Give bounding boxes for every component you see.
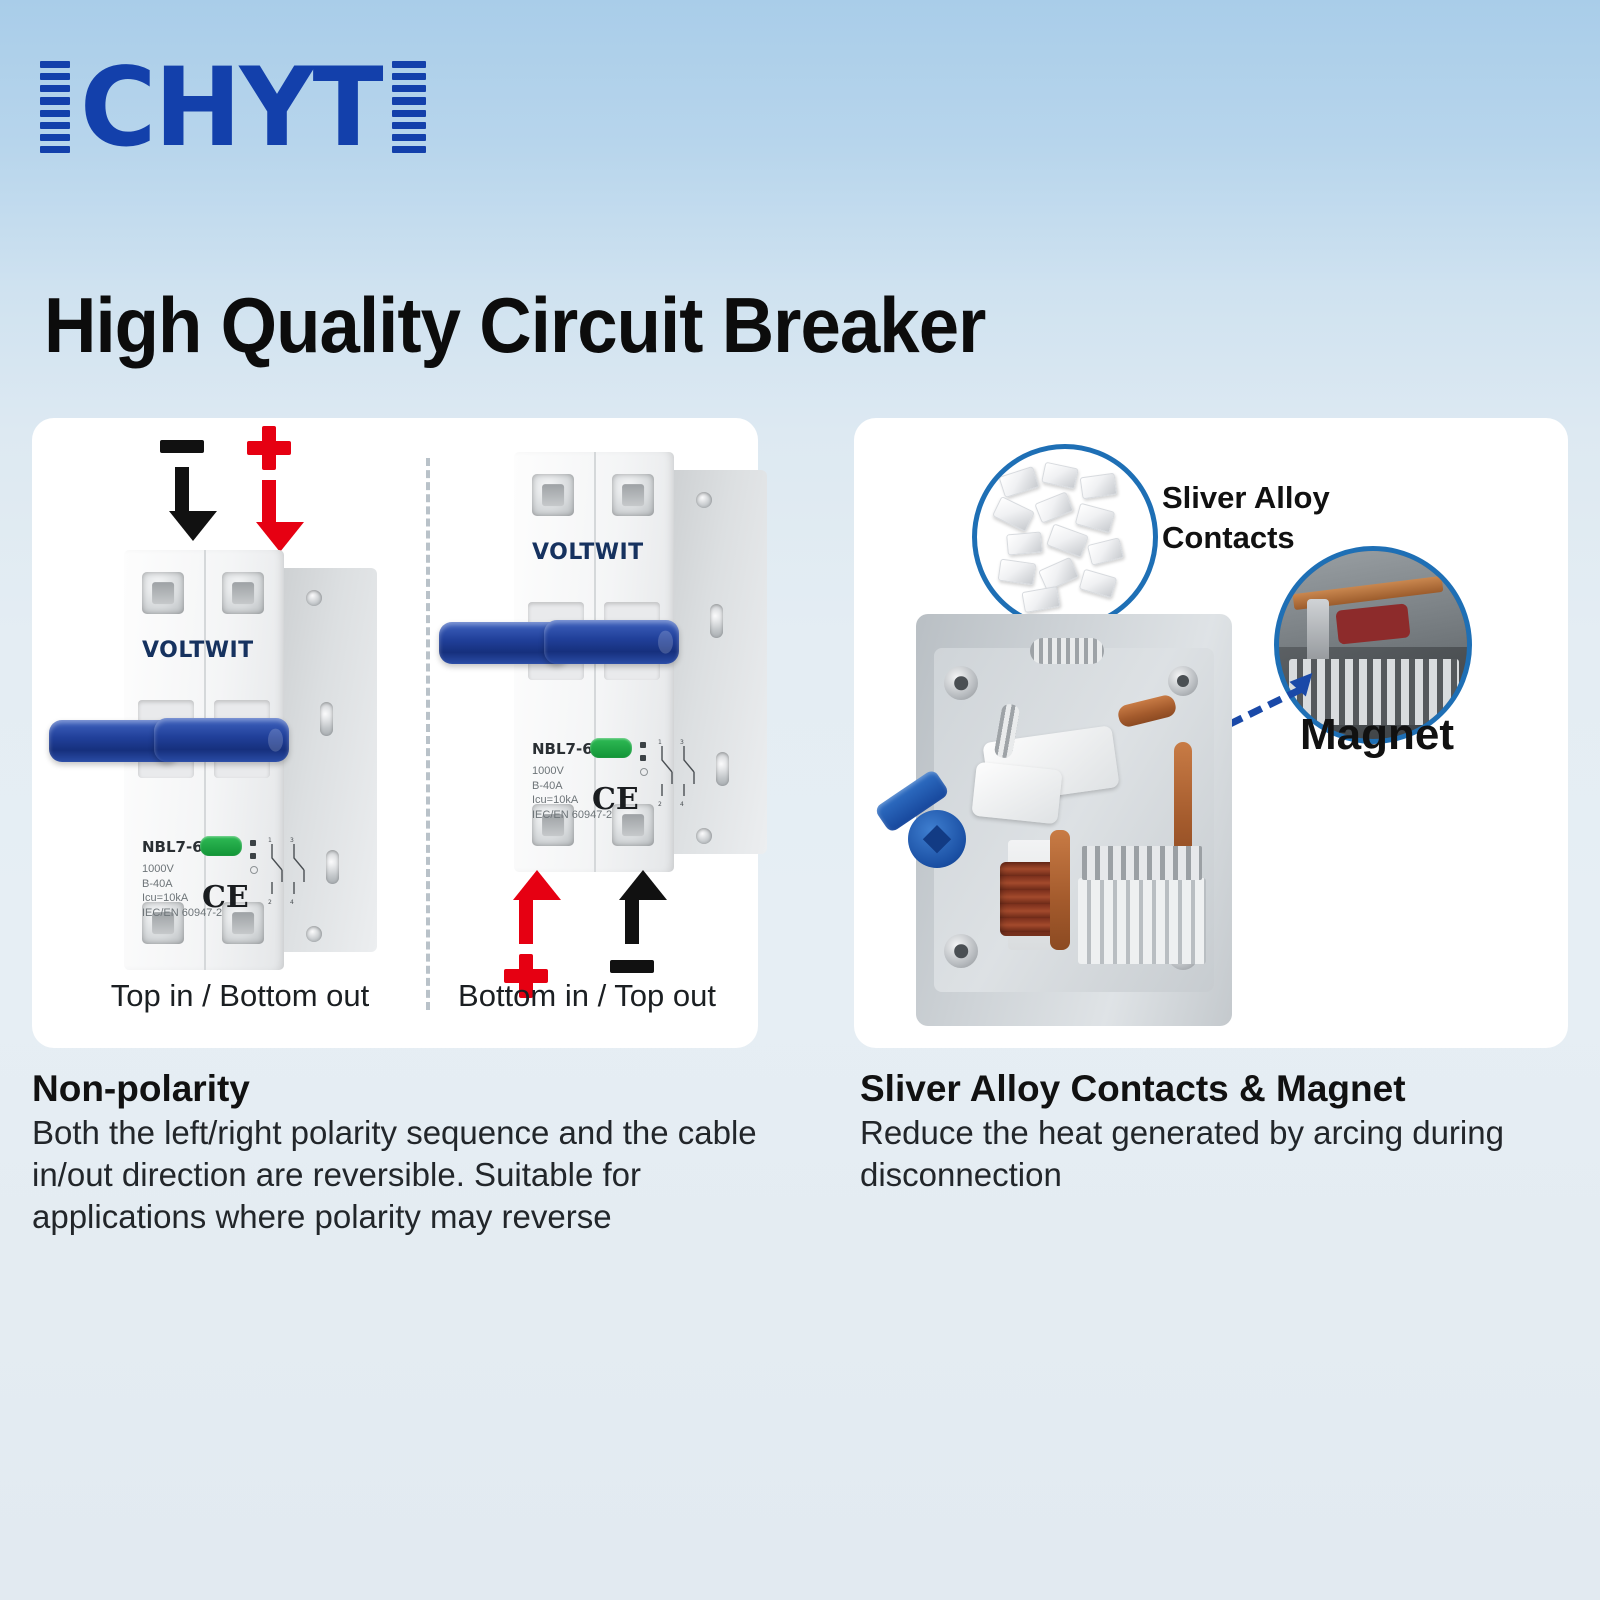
feature-heading-non-polarity: Non-polarity <box>32 1068 250 1110</box>
svg-text:4: 4 <box>680 801 684 808</box>
breaker-schematic-icon: 1 3 2 4 <box>266 836 308 906</box>
breaker-unit-b: VOLTWIT NBL7-63 1000V B-40A Icu=10kA IEC… <box>444 452 774 872</box>
svg-text:3: 3 <box>680 739 684 746</box>
ce-mark-label: CE <box>592 782 639 817</box>
polarity-mark-negative-bottom <box>610 870 654 973</box>
breaker-brand-label: VOLTWIT <box>532 540 644 565</box>
breaker-position-dots-icon <box>640 742 648 776</box>
breaker-position-dots-icon <box>250 840 258 874</box>
status-indicator-window-1 <box>200 836 242 856</box>
svg-text:3: 3 <box>290 837 294 844</box>
svg-text:1: 1 <box>268 837 272 844</box>
arrow-up-red-icon <box>513 870 539 944</box>
arrow-down-red-icon <box>256 480 282 552</box>
logo-wordmark: CHYT <box>80 52 382 161</box>
breaker-schematic-icon: 1 3 2 4 <box>656 738 698 808</box>
ce-mark-label: CE <box>202 880 249 915</box>
feature-body-non-polarity: Both the left/right polarity sequence an… <box>32 1112 802 1239</box>
feature-heading-contacts-magnet: Sliver Alloy Contacts & Magnet <box>860 1068 1406 1110</box>
callout-silver-alloy-contacts: Sliver Alloy Contacts <box>1162 478 1330 559</box>
logo-ladder-left-icon <box>40 61 70 153</box>
svg-text:2: 2 <box>658 801 662 808</box>
non-polarity-card: VOLTWIT NBL7-63 1000V B-40A Icu=10kA IEC… <box>32 418 758 1048</box>
polarity-mark-negative-top <box>160 440 204 541</box>
diagram-b-caption: Bottom in / Top out <box>432 978 742 1014</box>
card-divider <box>426 458 430 1010</box>
arrow-down-black-icon <box>169 467 195 541</box>
contacts-magnet-card: Sliver Alloy Contacts Magnet <box>854 418 1568 1048</box>
logo-ladder-right-icon <box>392 61 426 153</box>
breaker-brand-label: VOLTWIT <box>142 638 254 663</box>
brand-logo: CHYT <box>40 52 426 162</box>
arrow-up-black-icon <box>619 870 645 944</box>
polarity-mark-positive-top <box>247 426 291 552</box>
breaker-cutaway-illustration <box>882 614 1272 1026</box>
page-title: High Quality Circuit Breaker <box>44 286 985 364</box>
breaker-unit-a: VOLTWIT NBL7-63 1000V B-40A Icu=10kA IEC… <box>54 550 384 970</box>
callout-magnet: Magnet <box>1300 710 1454 760</box>
silver-alloy-contacts-inset <box>972 444 1158 630</box>
svg-text:4: 4 <box>290 899 294 906</box>
feature-body-contacts-magnet: Reduce the heat generated by arcing duri… <box>860 1112 1540 1196</box>
status-indicator-window-2 <box>590 738 632 758</box>
svg-text:1: 1 <box>658 739 662 746</box>
diagram-a-caption: Top in / Bottom out <box>62 978 418 1014</box>
svg-text:2: 2 <box>268 899 272 906</box>
